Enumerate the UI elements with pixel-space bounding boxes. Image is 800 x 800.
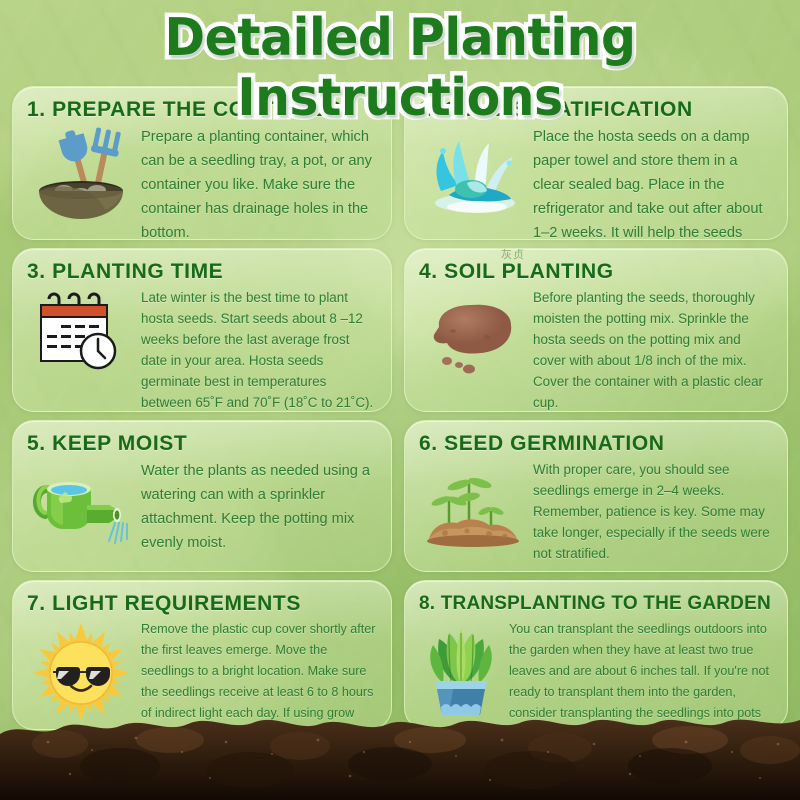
icon-slot [419, 287, 527, 379]
card-heading: 7. LIGHT REQUIREMENTS [27, 591, 377, 617]
pot-with-garden-tools-icon [31, 129, 131, 221]
icon-slot [27, 287, 135, 377]
seedlings-in-soil-icon [423, 463, 523, 549]
card-text: Place the hosta seeds on a damp paper to… [533, 125, 773, 240]
instruction-card-5: 5. KEEP MOIST [12, 420, 392, 572]
infographic-poster: Detailed Planting Instructions 1. PREPAR… [0, 0, 800, 800]
card-text: Late winter is the best time to plant ho… [141, 287, 377, 412]
page-title: Detailed Planting Instructions [24, 8, 776, 128]
card-text: With proper care, you should see seedlin… [533, 459, 773, 564]
card-text: Prepare a planting container, which can … [141, 125, 377, 240]
card-heading: 6. SEED GERMINATION [419, 431, 773, 457]
instruction-card-grid: 1. PREPARE THE CONTAINER [12, 86, 788, 730]
soil-mound-icon [423, 291, 523, 379]
card-body: Before planting the seeds, thoroughly mo… [419, 287, 773, 412]
instruction-card-4: 4. SOIL PLANTING 灰贞 [404, 248, 788, 412]
card-text: Water the plants as needed using a water… [141, 459, 377, 555]
icon-slot [27, 125, 135, 221]
card-heading: 4. SOIL PLANTING [419, 259, 773, 285]
card-body: With proper care, you should see seedlin… [419, 459, 773, 564]
card-heading: 5. KEEP MOIST [27, 431, 377, 457]
poster-title-container: Detailed Planting Instructions [0, 8, 800, 128]
card-body: Late winter is the best time to plant ho… [27, 287, 377, 412]
icon-slot [419, 459, 527, 549]
icon-slot [419, 125, 527, 219]
soil-strip [0, 704, 800, 800]
calendar-clock-icon [35, 291, 127, 377]
card-heading: 3. PLANTING TIME [27, 259, 377, 285]
card-body: Prepare a planting container, which can … [27, 125, 377, 240]
water-splash-icon [423, 129, 523, 219]
instruction-card-6: 6. SEED GERMINATION [404, 420, 788, 572]
watering-can-icon [29, 463, 133, 549]
card-heading: 8. TRANSPLANTING TO THE GARDEN [419, 591, 773, 617]
card-body: Place the hosta seeds on a damp paper to… [419, 125, 773, 240]
soil-texture [0, 704, 800, 800]
icon-slot [27, 459, 135, 549]
card-body: Water the plants as needed using a water… [27, 459, 377, 555]
instruction-card-3: 3. PLANTING TIME [12, 248, 392, 412]
card-text: Before planting the seeds, thoroughly mo… [533, 287, 773, 412]
